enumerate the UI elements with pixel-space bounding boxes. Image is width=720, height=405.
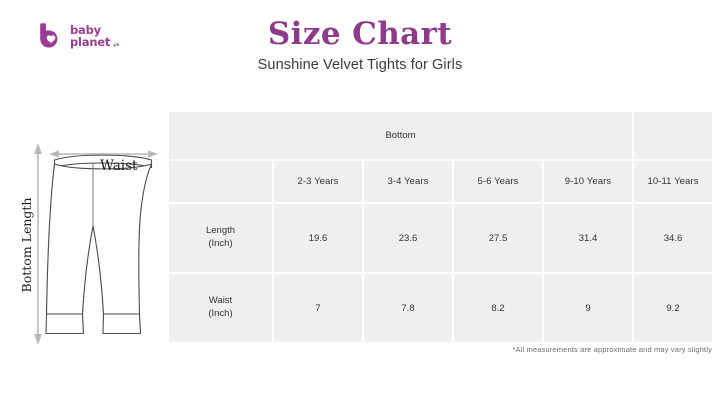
row-label-length: Length (Inch) [169, 204, 272, 272]
cell-length-age-1: 19.6 [274, 204, 362, 272]
column-header-age-5: 10-11 Years [634, 161, 712, 202]
column-header-age-2: 3-4 Years [364, 161, 452, 202]
cell-length-age-4: 31.4 [544, 204, 632, 272]
garment-illustration: Waist Bottom Length [14, 140, 174, 352]
column-header-age-4: 9-10 Years [544, 161, 632, 202]
page-subtitle: Sunshine Velvet Tights for Girls [0, 57, 720, 73]
cell-waist-age-4: 9 [544, 274, 632, 342]
bottom-length-label: Bottom Length [19, 198, 34, 293]
page-title: Size Chart [0, 16, 720, 52]
row-label-waist-line2: (Inch) [169, 308, 272, 321]
table-row: Length (Inch) 19.6 23.6 27.5 31.4 34.6 [169, 204, 712, 272]
cell-length-age-2: 23.6 [364, 204, 452, 272]
table-column-header-row: 2-3 Years 3-4 Years 5-6 Years 9-10 Years… [169, 161, 712, 202]
size-chart-table: Bottom 2-3 Years 3-4 Years 5-6 Years 9-1… [167, 110, 714, 344]
row-label-length-line2: (Inch) [169, 238, 272, 251]
header-corner-blank [169, 161, 272, 202]
cell-length-age-3: 27.5 [454, 204, 542, 272]
column-header-age-1: 2-3 Years [274, 161, 362, 202]
table-group-header-row: Bottom [169, 112, 712, 159]
table-row: Waist (Inch) 7 7.8 8.2 9 9.2 [169, 274, 712, 342]
measurement-disclaimer: *All measurements are approximate and ma… [512, 345, 712, 354]
column-header-age-3: 5-6 Years [454, 161, 542, 202]
row-label-length-line1: Length [169, 225, 272, 238]
row-label-waist: Waist (Inch) [169, 274, 272, 342]
group-header-bottom: Bottom [169, 112, 632, 159]
cell-waist-age-1: 7 [274, 274, 362, 342]
group-header-tail [634, 112, 712, 159]
cell-waist-age-2: 7.8 [364, 274, 452, 342]
row-label-waist-line1: Waist [169, 295, 272, 308]
cell-waist-age-5: 9.2 [634, 274, 712, 342]
waist-label: Waist [100, 158, 138, 174]
cell-waist-age-3: 8.2 [454, 274, 542, 342]
cell-length-age-5: 34.6 [634, 204, 712, 272]
